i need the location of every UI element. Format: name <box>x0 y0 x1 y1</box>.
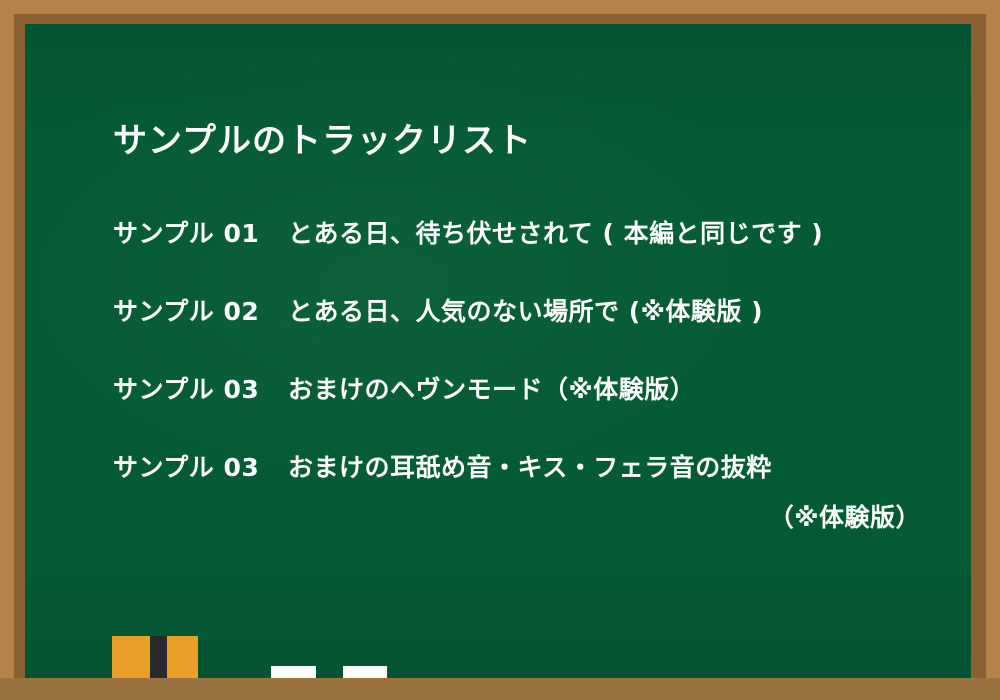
eraser-body-right <box>167 636 198 678</box>
chalk-stick-icon <box>343 666 387 678</box>
page-title: サンプルのトラックリスト <box>113 120 532 163</box>
track-label: サンプル 02 <box>113 292 288 328</box>
track-row: サンプル 01 とある日、待ち伏せされて ( 本編と同じです ) <box>113 214 971 250</box>
track-title: とある日、待ち伏せされて ( 本編と同じです ) <box>288 214 823 250</box>
track-title-continuation: （※体験版） <box>113 498 971 534</box>
eraser-band <box>150 636 167 678</box>
track-row: サンプル 02 とある日、人気のない場所で (※体験版 ) <box>113 292 971 328</box>
eraser-body-left <box>112 636 150 678</box>
track-row: サンプル 03 おまけのヘヴンモード（※体験版） <box>113 370 971 406</box>
track-row: サンプル 03 おまけの耳舐め音・キス・フェラ音の抜粋 <box>113 448 971 484</box>
blackboard-frame: サンプルのトラックリスト サンプル 01 とある日、待ち伏せされて ( 本編と同… <box>0 0 1000 700</box>
track-title: おまけの耳舐め音・キス・フェラ音の抜粋 <box>288 448 772 484</box>
track-title: おまけのヘヴンモード（※体験版） <box>288 370 695 406</box>
track-title: とある日、人気のない場所で (※体験版 ) <box>288 292 763 328</box>
chalk-stick-icon <box>271 666 316 678</box>
blackboard-surface: サンプルのトラックリスト サンプル 01 とある日、待ち伏せされて ( 本編と同… <box>25 24 971 678</box>
blackboard-eraser-icon <box>112 636 198 678</box>
board-ledge <box>0 678 1000 700</box>
track-label: サンプル 03 <box>113 448 288 484</box>
track-label: サンプル 03 <box>113 370 288 406</box>
track-label: サンプル 01 <box>113 214 288 250</box>
track-list: サンプル 01 とある日、待ち伏せされて ( 本編と同じです ) サンプル 02… <box>113 214 971 534</box>
